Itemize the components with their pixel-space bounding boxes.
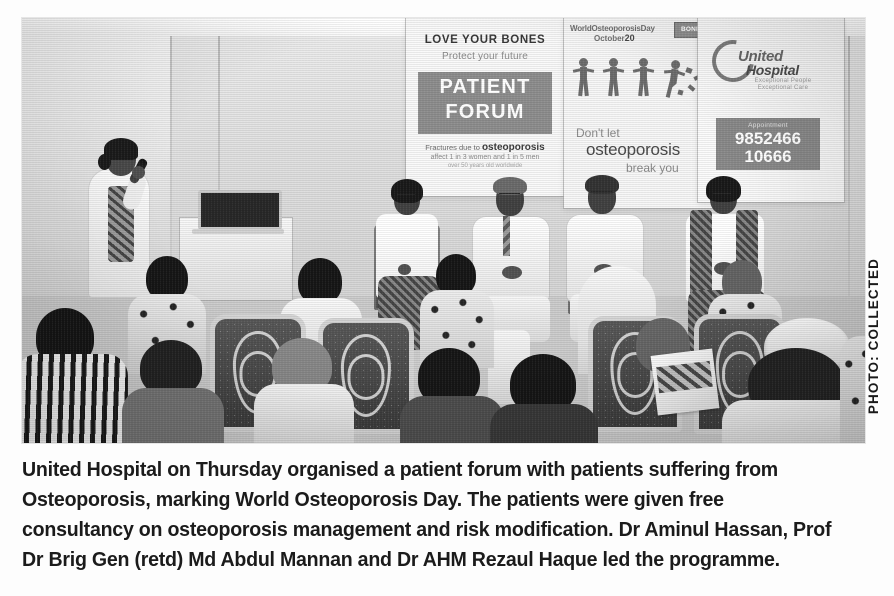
front-audience-body-5 xyxy=(490,404,598,443)
panelist-1-hair xyxy=(391,179,423,203)
logo-tagline-line2: Exceptional Care xyxy=(728,85,838,91)
panelist-1-glasses-icon xyxy=(397,194,415,199)
laptop xyxy=(198,190,282,230)
panelist-4-hair xyxy=(706,176,741,202)
event-date-word: October xyxy=(594,34,625,43)
slogan-line3: break you xyxy=(626,161,679,175)
wall-seam-3 xyxy=(848,36,850,296)
slogan-line1: Don't let xyxy=(576,126,620,140)
appointment-box: Appointment 9852466 10666 xyxy=(716,118,820,170)
panelist-4-scarf-left xyxy=(690,210,712,296)
photo-caption: United Hospital on Thursday organised a … xyxy=(22,455,832,575)
panelist-2-hands xyxy=(502,266,522,279)
banner-patient-forum: LOVE YOUR BONES Protect your future PATI… xyxy=(406,18,564,196)
speaker-hand xyxy=(132,166,145,179)
event-tag: WorldOsteoporosisDay xyxy=(570,24,658,33)
banner-fineprint-line3: over 50 years old worldwide xyxy=(412,163,558,170)
slogan-line2: osteoporosis xyxy=(586,140,680,160)
front-audience-body-4 xyxy=(400,396,504,443)
panelist-2-tie xyxy=(503,216,510,256)
banner-title-box: PATIENT FORUM xyxy=(418,72,552,134)
caption-text: United Hospital on Thursday organised a … xyxy=(22,455,832,575)
front-audience-body-8 xyxy=(840,336,865,443)
panelist-4-glasses-icon xyxy=(713,193,731,198)
photo-scene: LOVE YOUR BONES Protect your future PATI… xyxy=(22,18,865,443)
front-audience-body-2 xyxy=(122,388,224,443)
fineprint-lead-text: Fractures due to xyxy=(425,143,480,152)
paper-doll-graphic-icon xyxy=(574,56,706,104)
panelist-1-hands xyxy=(398,264,411,275)
event-date: October20 xyxy=(594,33,664,43)
banner-fineprint-line2: affect 1 in 3 women and 1 in 5 men xyxy=(412,154,558,162)
front-audience-body-3 xyxy=(254,384,354,443)
panelist-2-glasses-icon xyxy=(499,193,520,198)
speaker-hair-bun xyxy=(98,154,111,170)
panelist-3-glasses-icon xyxy=(591,191,612,196)
logo-tagline-line1: Exceptional People xyxy=(728,78,838,84)
photo-credit: PHOTO: COLLECTED xyxy=(866,258,881,414)
banner-headline: LOVE YOUR BONES xyxy=(414,34,556,46)
banner-fineprint-lead: Fractures due to osteoporosis xyxy=(412,144,558,152)
banner-title-line1: PATIENT xyxy=(418,77,552,97)
banner-subhead: Protect your future xyxy=(414,51,556,62)
banner-title-line2: FORUM xyxy=(418,102,552,122)
banner-united-hospital: United Hospital Exceptional People Excep… xyxy=(698,18,844,202)
appointment-label: Appointment xyxy=(716,122,820,129)
appointment-number-1: 9852466 xyxy=(716,130,820,148)
leaflet xyxy=(651,348,720,415)
appointment-number-2: 10666 xyxy=(716,148,820,166)
news-photo: LOVE YOUR BONES Protect your future PATI… xyxy=(22,18,865,443)
logo-word-hospital: Hospital xyxy=(746,62,799,78)
news-photo-page: LOVE YOUR BONES Protect your future PATI… xyxy=(0,0,894,596)
panelist-2-torso xyxy=(472,216,550,302)
front-audience-body-striped xyxy=(22,354,128,443)
fineprint-keyword: osteoporosis xyxy=(482,142,545,153)
event-date-number: 20 xyxy=(625,33,635,43)
